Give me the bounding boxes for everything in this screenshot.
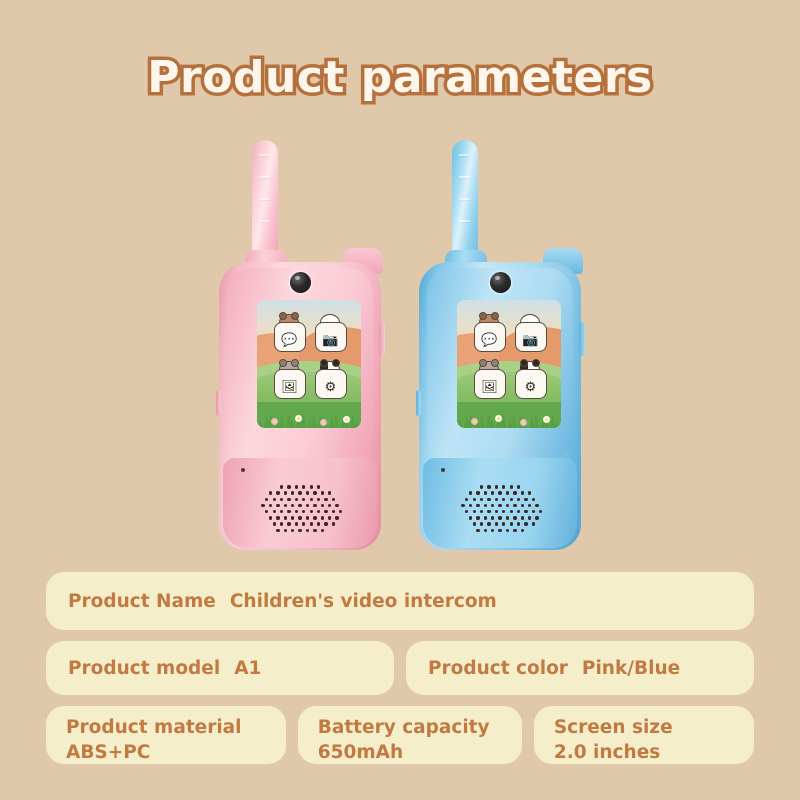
speaker-hole	[269, 504, 272, 507]
speaker-hole	[528, 491, 531, 494]
gallery-icon: 🖼	[281, 380, 298, 393]
speaker-hole	[306, 516, 309, 519]
app-tile: 📷	[515, 322, 547, 352]
spec-value: ABS+PC	[66, 741, 266, 766]
side-button-left[interactable]	[216, 390, 221, 416]
speaker-hole	[310, 510, 313, 513]
speaker-hole	[291, 504, 294, 507]
product-image-pink-walkie-talkie: 💬 📷	[205, 140, 395, 550]
speaker-hole	[498, 491, 501, 494]
speaker-hole	[517, 485, 520, 488]
chat-icon: 💬	[481, 333, 497, 346]
product-gallery: 💬 📷	[0, 140, 800, 550]
speaker-hole	[484, 504, 487, 507]
speaker-hole	[321, 504, 324, 507]
speaker-hole	[284, 516, 287, 519]
speaker-hole	[491, 516, 494, 519]
settings-gear-icon: ⚙	[325, 380, 337, 393]
side-button-right[interactable]	[379, 322, 385, 356]
speaker-hole	[480, 498, 483, 501]
speaker-hole	[491, 504, 494, 507]
speaker-hole	[276, 516, 279, 519]
spec-product-color: Product color Pink/Blue	[406, 641, 754, 695]
speaker-hole	[521, 516, 524, 519]
spec-product-material: Product material ABS+PC	[46, 706, 286, 764]
app-icon-camera[interactable]: 📷	[313, 314, 347, 352]
speaker-hole	[484, 529, 487, 532]
speaker-hole	[321, 491, 324, 494]
speaker-hole	[332, 498, 335, 501]
speaker-hole	[302, 522, 305, 525]
app-icon-settings[interactable]: ⚙	[313, 361, 347, 399]
speaker-hole	[498, 504, 501, 507]
speaker-hole	[524, 522, 527, 525]
speaker-hole	[273, 522, 276, 525]
speaker-hole	[521, 529, 524, 532]
speaker-hole	[473, 498, 476, 501]
speaker-hole	[476, 516, 479, 519]
speaker-hole	[317, 522, 320, 525]
speaker-hole	[291, 529, 294, 532]
speaker-hole	[287, 510, 290, 513]
flower-icon	[471, 418, 478, 425]
speaker-hole	[480, 485, 483, 488]
speaker-hole	[280, 498, 283, 501]
speaker-hole	[269, 516, 272, 519]
speaker-hole	[280, 522, 283, 525]
screen-app-grid: 💬 📷	[257, 314, 361, 399]
speaker-hole	[317, 510, 320, 513]
antenna-ridge	[459, 176, 470, 178]
speaker-hole	[524, 510, 527, 513]
specifications-panel: Product Name Children's video intercom P…	[46, 572, 754, 775]
spec-product-model: Product model A1	[46, 641, 394, 695]
speaker-hole	[287, 498, 290, 501]
app-icon-settings[interactable]: ⚙	[513, 361, 547, 399]
speaker-grille	[452, 476, 548, 538]
speaker-hole	[265, 498, 268, 501]
speaker-hole	[295, 485, 298, 488]
grass-flowers	[457, 402, 561, 428]
flower-icon	[320, 419, 327, 426]
ear-icon	[479, 359, 487, 367]
speaker-hole	[306, 504, 309, 507]
speaker-hole	[339, 510, 342, 513]
app-icon-chat[interactable]: 💬	[272, 314, 306, 352]
speaker-hole	[328, 504, 331, 507]
app-tile: 🖼	[474, 369, 506, 399]
speaker-hole	[295, 510, 298, 513]
spec-label: Battery capacity	[318, 717, 490, 738]
speaker-hole	[295, 522, 298, 525]
flower-icon	[543, 416, 550, 423]
speaker-hole	[517, 522, 520, 525]
app-tile: 💬	[274, 322, 306, 352]
speaker-hole	[535, 516, 538, 519]
speaker-hole	[524, 498, 527, 501]
speaker-hole	[298, 516, 301, 519]
speaker-hole	[276, 504, 279, 507]
speaker-hole	[521, 491, 524, 494]
device-screen: 💬 📷	[457, 300, 561, 428]
speaker-hole	[535, 504, 538, 507]
spec-value: A1	[234, 658, 261, 679]
ear-icon	[491, 359, 499, 367]
gallery-icon: 🖼	[481, 380, 498, 393]
antenna-ridge	[259, 154, 270, 156]
speaker-hole	[469, 491, 472, 494]
speaker-hole	[510, 510, 513, 513]
speaker-hole	[284, 491, 287, 494]
ear-icon	[291, 359, 299, 367]
speaker-hole	[324, 510, 327, 513]
speaker-hole	[324, 522, 327, 525]
speaker-hole	[298, 491, 301, 494]
chat-icon: 💬	[281, 333, 297, 346]
speaker-hole	[291, 516, 294, 519]
speaker-hole	[269, 491, 272, 494]
speaker-hole	[528, 504, 531, 507]
speaker-hole	[273, 498, 276, 501]
speaker-hole	[317, 485, 320, 488]
settings-gear-icon: ⚙	[525, 380, 537, 393]
speaker-hole	[498, 529, 501, 532]
speaker-hole	[473, 522, 476, 525]
flower-icon	[295, 415, 302, 422]
speaker-hole	[313, 529, 316, 532]
speaker-hole	[495, 485, 498, 488]
flower-icon	[271, 418, 278, 425]
speaker-hole	[306, 529, 309, 532]
speaker-hole	[332, 522, 335, 525]
speaker-hole	[532, 522, 535, 525]
speaker-hole	[284, 529, 287, 532]
speaker-hole	[302, 485, 305, 488]
device-lower-deck	[223, 458, 377, 548]
speaker-hole	[276, 529, 279, 532]
device-screen: 💬 📷	[257, 300, 361, 428]
antenna-ridge	[459, 154, 470, 156]
speaker-hole	[487, 522, 490, 525]
spec-label: Product Name	[68, 591, 216, 612]
ear-icon	[491, 312, 499, 320]
speaker-hole	[480, 522, 483, 525]
speaker-hole	[521, 504, 524, 507]
spec-row-3: Product material ABS+PC Battery capacity…	[46, 706, 754, 764]
camera-icon: 📷	[522, 333, 538, 346]
speaker-hole	[502, 510, 505, 513]
device-lower-deck	[423, 458, 577, 548]
speaker-hole	[506, 529, 509, 532]
spec-row-1: Product Name Children's video intercom	[46, 572, 754, 630]
speaker-hole	[321, 516, 324, 519]
spec-value: Pink/Blue	[582, 658, 680, 679]
speaker-hole	[469, 516, 472, 519]
spec-row-2: Product model A1 Product color Pink/Blue	[46, 641, 754, 695]
speaker-hole	[276, 491, 279, 494]
spec-value: Children's video intercom	[230, 591, 497, 612]
speaker-hole	[495, 522, 498, 525]
speaker-hole	[476, 491, 479, 494]
speaker-hole	[261, 504, 264, 507]
app-icon-camera[interactable]: 📷	[513, 314, 547, 352]
ear-icon	[332, 359, 340, 367]
speaker-hole	[302, 510, 305, 513]
speaker-hole	[310, 522, 313, 525]
speaker-hole	[484, 516, 487, 519]
spec-label: Product color	[428, 658, 568, 679]
speaker-hole	[484, 491, 487, 494]
speaker-hole	[510, 498, 513, 501]
spec-label: Screen size	[554, 717, 673, 738]
product-image-blue-walkie-talkie: 💬 📷	[405, 140, 595, 550]
antenna-ridge	[259, 198, 270, 200]
speaker-hole	[291, 491, 294, 494]
page-title: Product parameters	[147, 52, 652, 103]
speaker-hole	[506, 491, 509, 494]
speaker-hole	[510, 522, 513, 525]
speaker-hole	[280, 485, 283, 488]
speaker-hole	[321, 529, 324, 532]
speaker-hole	[502, 498, 505, 501]
speaker-hole	[510, 485, 513, 488]
speaker-hole	[295, 498, 298, 501]
speaker-hole	[302, 498, 305, 501]
antenna-ridge	[259, 220, 270, 222]
camera-lens-icon	[490, 272, 511, 293]
speaker-hole	[287, 522, 290, 525]
speaker-hole	[506, 516, 509, 519]
speaker-hole	[280, 510, 283, 513]
antenna-ridge	[259, 176, 270, 178]
speaker-hole	[465, 498, 468, 501]
speaker-hole	[313, 516, 316, 519]
ear-icon	[532, 359, 540, 367]
app-icon-gallery[interactable]: 🖼	[272, 361, 306, 399]
speaker-hole	[284, 504, 287, 507]
app-icon-gallery[interactable]: 🖼	[472, 361, 506, 399]
side-button-left[interactable]	[416, 390, 421, 416]
ear-icon	[279, 359, 287, 367]
speaker-hole	[310, 498, 313, 501]
speaker-hole	[532, 498, 535, 501]
page-header: Product parameters	[0, 52, 800, 103]
speaker-hole	[469, 504, 472, 507]
speaker-hole	[465, 510, 468, 513]
speaker-hole	[513, 516, 516, 519]
speaker-hole	[502, 522, 505, 525]
speaker-hole	[487, 485, 490, 488]
speaker-hole	[495, 498, 498, 501]
ear-icon	[291, 312, 299, 320]
spec-label: Product material	[66, 717, 242, 738]
microphone-icon	[441, 468, 445, 472]
speaker-hole	[324, 498, 327, 501]
speaker-hole	[473, 510, 476, 513]
speaker-hole	[461, 504, 464, 507]
speaker-hole	[480, 510, 483, 513]
speaker-hole	[313, 504, 316, 507]
flower-icon	[495, 415, 502, 422]
speaker-hole	[328, 491, 331, 494]
speaker-hole	[335, 516, 338, 519]
spec-value: 650mAh	[318, 741, 502, 766]
app-tile: ⚙	[515, 369, 547, 399]
speaker-hole	[310, 485, 313, 488]
camera-icon: 📷	[322, 333, 338, 346]
side-button-right[interactable]	[579, 322, 585, 356]
antenna-ridge	[459, 220, 470, 222]
speaker-hole	[273, 510, 276, 513]
flower-icon	[520, 419, 527, 426]
speaker-hole	[506, 504, 509, 507]
speaker-hole	[287, 485, 290, 488]
app-tile: 💬	[474, 322, 506, 352]
speaker-hole	[502, 485, 505, 488]
speaker-grille	[252, 476, 348, 538]
app-tile: 🖼	[274, 369, 306, 399]
speaker-hole	[332, 510, 335, 513]
app-tile: ⚙	[315, 369, 347, 399]
microphone-icon	[241, 468, 245, 472]
spec-battery-capacity: Battery capacity 650mAh	[298, 706, 522, 764]
speaker-hole	[487, 498, 490, 501]
spec-screen-size: Screen size 2.0 inches	[534, 706, 754, 764]
speaker-hole	[487, 510, 490, 513]
spec-product-name: Product Name Children's video intercom	[46, 572, 754, 630]
speaker-hole	[265, 510, 268, 513]
speaker-hole	[517, 498, 520, 501]
speaker-hole	[313, 491, 316, 494]
flower-icon	[343, 416, 350, 423]
speaker-hole	[491, 529, 494, 532]
speaker-hole	[298, 529, 301, 532]
app-tile: 📷	[315, 322, 347, 352]
speaker-hole	[476, 529, 479, 532]
speaker-hole	[335, 504, 338, 507]
ear-icon	[479, 312, 487, 320]
speaker-hole	[498, 516, 501, 519]
spec-value: 2.0 inches	[554, 741, 734, 766]
ear-icon	[320, 359, 328, 367]
speaker-hole	[306, 491, 309, 494]
speaker-hole	[539, 510, 542, 513]
spec-label: Product model	[68, 658, 220, 679]
speaker-hole	[491, 491, 494, 494]
antenna-ridge	[459, 198, 470, 200]
speaker-hole	[513, 529, 516, 532]
speaker-hole	[317, 498, 320, 501]
speaker-hole	[528, 516, 531, 519]
speaker-hole	[495, 510, 498, 513]
speaker-hole	[532, 510, 535, 513]
speaker-hole	[476, 504, 479, 507]
speaker-hole	[298, 504, 301, 507]
camera-lens-icon	[290, 272, 311, 293]
speaker-hole	[513, 491, 516, 494]
ear-icon	[279, 312, 287, 320]
speaker-hole	[328, 516, 331, 519]
speaker-hole	[513, 504, 516, 507]
app-icon-chat[interactable]: 💬	[472, 314, 506, 352]
screen-app-grid: 💬 📷	[457, 314, 561, 399]
ear-icon	[520, 359, 528, 367]
speaker-hole	[517, 510, 520, 513]
grass-flowers	[257, 402, 361, 428]
